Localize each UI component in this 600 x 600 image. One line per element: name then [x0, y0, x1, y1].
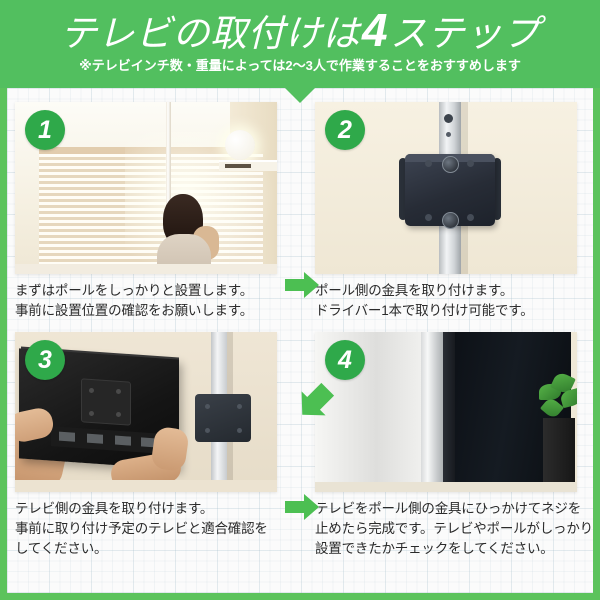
- photo2-bracket-hole: [467, 214, 474, 221]
- step-caption-1: まずはポールをしっかりと設置します。 事前に設置位置の確認をお願いします。: [15, 281, 283, 321]
- title-prefix: テレビの取付けは: [60, 13, 360, 54]
- step-caption-2: ポール側の金具を取り付けます。 ドライバー1本で取り付け可能です。: [315, 281, 583, 321]
- step-caption-3: テレビ側の金具を取り付けます。 事前に取り付け予定のテレビと適合確認を してくだ…: [15, 499, 283, 559]
- photo3-bracket-hole: [237, 428, 242, 433]
- photo4-plant-pot: [543, 418, 575, 492]
- photo2-top-screw: [442, 156, 459, 173]
- arrow-step3-to-step4-icon: [285, 492, 319, 522]
- photo1-shelf: [219, 160, 277, 171]
- step-caption-3-line-3: してください。: [15, 539, 283, 559]
- title-number: 4: [360, 4, 390, 56]
- photo3-vesa-plate: [81, 378, 131, 425]
- step-card-1: 1 まずはポールをしっかりと設置します。 事前に設置位置の確認をお願いします。: [15, 102, 283, 321]
- arrow-step1-to-step2-icon: [285, 270, 319, 300]
- photo1-lamp: [225, 130, 255, 160]
- photo3-floor: [15, 480, 277, 492]
- photo2-pole-bolt: [444, 114, 453, 123]
- step-caption-4-line-3: 設置できたかチェックをしてください。: [315, 539, 583, 559]
- step-badge-3: 3: [25, 340, 65, 380]
- step-caption-4-line-1: テレビをポール側の金具にひっかけてネジを: [315, 499, 583, 519]
- photo3-vesa-hole: [116, 412, 121, 417]
- photo4-mount-pole: [421, 332, 443, 492]
- photo1-floor: [15, 264, 277, 274]
- step-caption-4: テレビをポール側の金具にひっかけてネジを 止めたら完成です。テレビやポールがしっ…: [315, 499, 583, 559]
- step-caption-2-line-2: ドライバー1本で取り付け可能です。: [315, 301, 583, 321]
- photo3-vesa-hole: [116, 389, 121, 394]
- infographic-page: テレビの取付けは4ステップ ※テレビインチ数・重量によっては2〜3人で作業するこ…: [0, 0, 600, 600]
- step-card-4: 4 テレビをポール側の金具にひっかけてネジを 止めたら完成です。テレビやポールが…: [315, 332, 583, 559]
- step-caption-1-line-2: 事前に設置位置の確認をお願いします。: [15, 301, 283, 321]
- steps-board: 1 まずはポールをしっかりと設置します。 事前に設置位置の確認をお願いします。: [7, 88, 593, 593]
- photo4-plant: [537, 374, 577, 420]
- photo2-bracket-hole: [467, 160, 474, 167]
- photo2-bracket-hole: [425, 214, 432, 221]
- step-card-2: 2 ポール側の金具を取り付けます。 ドライバー1本で取り付け可能です。: [315, 102, 583, 321]
- header-banner: テレビの取付けは4ステップ ※テレビインチ数・重量によっては2〜3人で作業するこ…: [0, 0, 600, 88]
- arrow-step2-to-step3-icon: [293, 380, 337, 424]
- photo3-vesa-hole: [89, 388, 94, 393]
- step-photo-4: 4: [315, 332, 577, 492]
- photo3-vesa-hole: [89, 411, 94, 416]
- step-card-3: 3 テレビ側の金具を取り付けます。 事前に取り付け予定のテレビと適合確認を して…: [15, 332, 283, 559]
- photo4-floor: [315, 482, 577, 492]
- step-photo-3: 3: [15, 332, 277, 492]
- header-notch-triangle: [285, 88, 315, 103]
- step-caption-3-line-1: テレビ側の金具を取り付けます。: [15, 499, 283, 519]
- header-subtitle: ※テレビインチ数・重量によっては2〜3人で作業することをおすすめします: [0, 57, 600, 75]
- step-badge-4: 4: [325, 340, 365, 380]
- photo3-bracket-hole: [205, 404, 210, 409]
- step-caption-3-line-2: 事前に取り付け予定のテレビと適合確認を: [15, 519, 283, 539]
- photo2-bottom-screw: [442, 212, 459, 229]
- step-caption-1-line-1: まずはポールをしっかりと設置します。: [15, 281, 283, 301]
- title-suffix: ステップ: [390, 13, 540, 54]
- step-caption-4-line-2: 止めたら完成です。テレビやポールがしっかり: [315, 519, 583, 539]
- photo3-bracket-hole: [237, 404, 242, 409]
- photo3-pole-bracket: [195, 394, 251, 442]
- step-photo-1: 1: [15, 102, 277, 274]
- page-title: テレビの取付けは4ステップ: [0, 8, 600, 56]
- photo2-bracket-hole: [425, 160, 432, 167]
- step-badge-2: 2: [325, 110, 365, 150]
- step-photo-2: 2: [315, 102, 577, 274]
- photo3-bracket-hole: [205, 428, 210, 433]
- step-caption-2-line-1: ポール側の金具を取り付けます。: [315, 281, 583, 301]
- step-badge-1: 1: [25, 110, 65, 150]
- photo2-pole-bolt-small: [446, 132, 451, 137]
